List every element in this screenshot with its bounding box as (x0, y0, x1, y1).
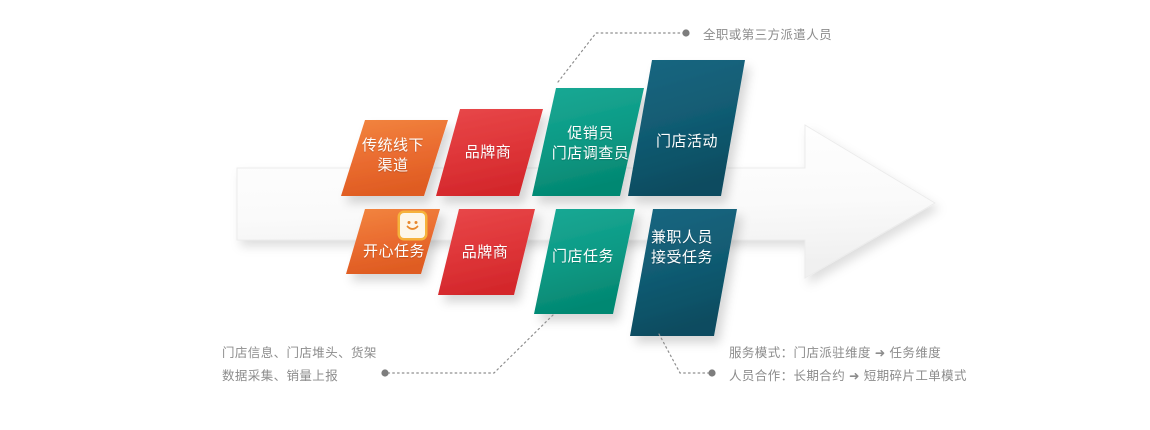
diagram-graphics (0, 0, 1150, 430)
connector-dot-top-right (682, 29, 689, 36)
connector-dot-bottom-right (708, 369, 715, 376)
diagram-canvas: 传统线下 渠道 品牌商 促销员 门店调查员 门店活动 开心任务 品牌商 门店任务… (0, 0, 1150, 430)
annotation-staffing: 全职或第三方派遣人员 (703, 24, 832, 47)
connector-bottom-right (659, 334, 709, 373)
annotation-service-model: 服务模式：门店派驻维度 ➜ 任务维度 人员合作：长期合约 ➜ 短期碎片工单模式 (729, 342, 967, 388)
connector-bottom-left (388, 315, 553, 373)
annotation-data-collection-line2: 数据采集、销量上报 (222, 365, 377, 388)
annotation-service-model-line2: 人员合作：长期合约 ➜ 短期碎片工单模式 (729, 365, 967, 388)
smiley-face-icon (400, 213, 425, 238)
annotation-service-model-line1: 服务模式：门店派驻维度 ➜ 任务维度 (729, 342, 967, 365)
annotation-data-collection-line1: 门店信息、门店堆头、货架 (222, 342, 377, 365)
connector-dot-bottom-left (381, 369, 388, 376)
top-row-shapes (341, 60, 745, 196)
annotation-data-collection: 门店信息、门店堆头、货架 数据采集、销量上报 (222, 342, 377, 388)
